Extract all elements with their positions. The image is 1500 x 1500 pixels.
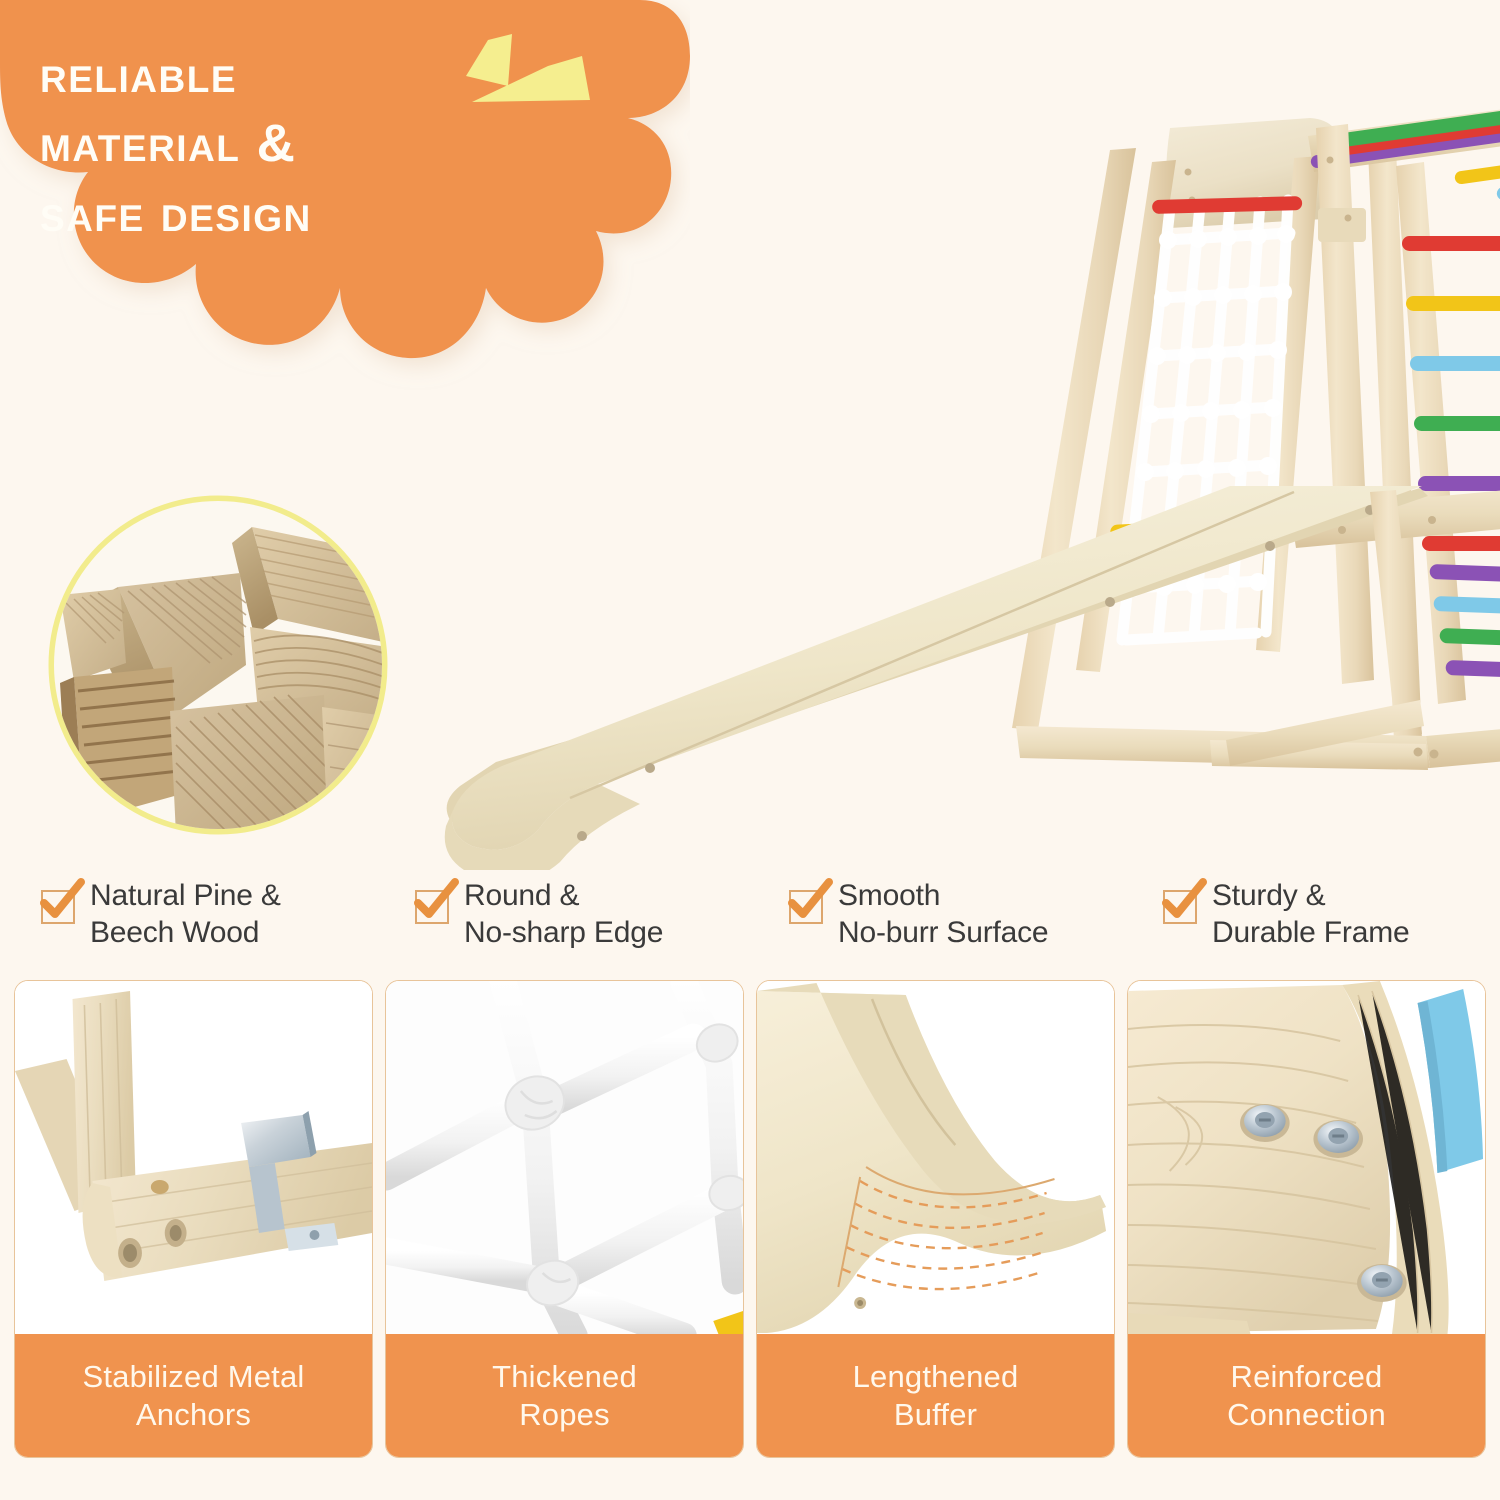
title-line-3: Safe Design [40, 179, 640, 248]
detail-card-reinforced-connection: Reinforced Connection [1127, 980, 1486, 1458]
feature-label: Smooth No-burr Surface [838, 878, 1048, 952]
bolted-joint-photo [1128, 981, 1485, 1336]
feature-item-4: Sturdy & Durable Frame [1126, 878, 1500, 970]
detail-card-thickened-ropes: Thickened Ropes [385, 980, 744, 1458]
wood-material-inset [40, 495, 395, 835]
metal-anchor-photo [15, 981, 372, 1336]
slide-buffer-photo [757, 981, 1114, 1336]
checkbox-checked-icon [414, 882, 454, 924]
detail-card-metal-anchors: Stabilized Metal Anchors [14, 980, 373, 1458]
starburst-icon [440, 28, 590, 143]
feature-checklist-row: Natural Pine & Beech Wood Round & No-sha… [0, 878, 1500, 970]
feature-item-1: Natural Pine & Beech Wood [0, 878, 378, 970]
rope-mesh-photo [386, 981, 743, 1336]
card-caption: Stabilized Metal Anchors [15, 1334, 372, 1457]
infographic-page: Reliable Material & Safe Design [0, 0, 1500, 1500]
feature-label: Natural Pine & Beech Wood [90, 878, 281, 952]
feature-item-3: Smooth No-burr Surface [752, 878, 1126, 970]
card-caption: Lengthened Buffer [757, 1334, 1114, 1457]
checkbox-checked-icon [40, 882, 80, 924]
feature-label: Round & No-sharp Edge [464, 878, 663, 952]
feature-label: Sturdy & Durable Frame [1212, 878, 1409, 952]
detail-card-lengthened-buffer: Lengthened Buffer [756, 980, 1115, 1458]
feature-item-2: Round & No-sharp Edge [378, 878, 752, 970]
checkbox-checked-icon [788, 882, 828, 924]
detail-cards-row: Stabilized Metal Anchors [14, 980, 1486, 1458]
card-caption: Thickened Ropes [386, 1334, 743, 1457]
card-caption: Reinforced Connection [1128, 1334, 1485, 1457]
checkbox-checked-icon [1162, 882, 1202, 924]
